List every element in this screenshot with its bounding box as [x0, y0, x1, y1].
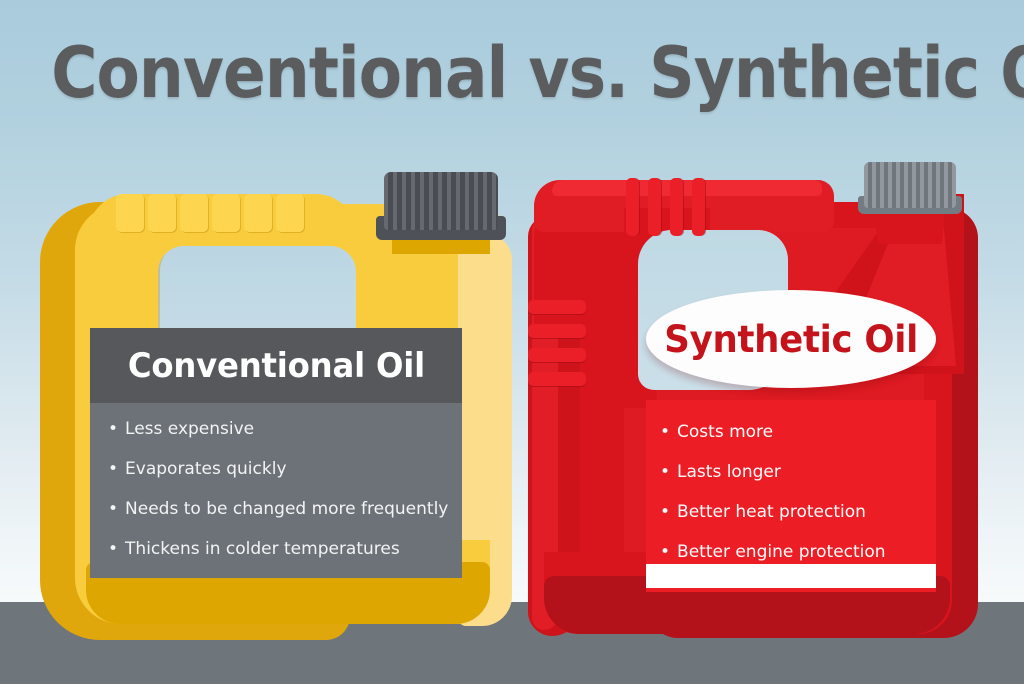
list-item-label: Needs to be changed more frequently [125, 499, 448, 519]
bullet-icon: • [660, 502, 677, 522]
red-handle-grip-ribs-side [528, 300, 586, 396]
list-item-label: Better engine protection [677, 542, 886, 562]
list-item-label: Evaporates quickly [125, 459, 286, 479]
synthetic-label-ellipse: Synthetic Oil [646, 290, 936, 388]
list-item-label: Better heat protection [677, 502, 866, 522]
synthetic-label-panel: •Costs more •Lasts longer •Better heat p… [646, 400, 936, 592]
bullet-icon: • [108, 499, 125, 519]
list-item-label: Lasts longer [677, 462, 781, 482]
bullet-icon: • [108, 459, 125, 479]
list-item: •Lasts longer [660, 452, 936, 492]
yellow-handle-grip-ribs [116, 194, 336, 232]
cap-ribs-icon [864, 162, 956, 208]
bullet-icon: • [660, 462, 677, 482]
conventional-oil-bottle: Conventional Oil •Less expensive •Evapor… [40, 188, 480, 640]
list-item: •Needs to be changed more frequently [90, 489, 462, 529]
cap-ribs-icon [384, 172, 498, 230]
synthetic-bullet-list: •Costs more •Lasts longer •Better heat p… [646, 400, 936, 572]
list-item: •Evaporates quickly [90, 449, 462, 489]
list-item: •Better heat protection [660, 492, 936, 532]
list-item-label: Thickens in colder temperatures [125, 539, 400, 559]
synthetic-label-title: Synthetic Oil [664, 318, 918, 361]
page-title: Conventional vs. Synthetic Oil [51, 36, 973, 110]
conventional-label-title: Conventional Oil [127, 346, 424, 386]
synthetic-oil-bottle: Synthetic Oil •Costs more •Lasts longer … [528, 172, 988, 640]
yellow-bottle-cap [384, 172, 498, 230]
list-item: •Thickens in colder temperatures [90, 529, 462, 569]
infographic-canvas: Conventional vs. Synthetic Oil Conventio… [0, 0, 1024, 684]
red-bottle-cap [864, 162, 956, 208]
bullet-icon: • [660, 422, 677, 442]
red-handle-grip-ribs-top [626, 178, 708, 236]
bullet-icon: • [108, 539, 125, 559]
conventional-label-header: Conventional Oil [90, 328, 462, 403]
list-item: •Costs more [660, 412, 936, 452]
list-item-label: Less expensive [125, 419, 254, 439]
conventional-label: Conventional Oil •Less expensive •Evapor… [90, 328, 462, 578]
bullet-icon: • [660, 542, 677, 562]
synthetic-label-white-bar [646, 564, 936, 588]
list-item-label: Costs more [677, 422, 773, 442]
bullet-icon: • [108, 419, 125, 439]
list-item: •Less expensive [90, 409, 462, 449]
conventional-bullet-list: •Less expensive •Evaporates quickly •Nee… [90, 403, 462, 578]
